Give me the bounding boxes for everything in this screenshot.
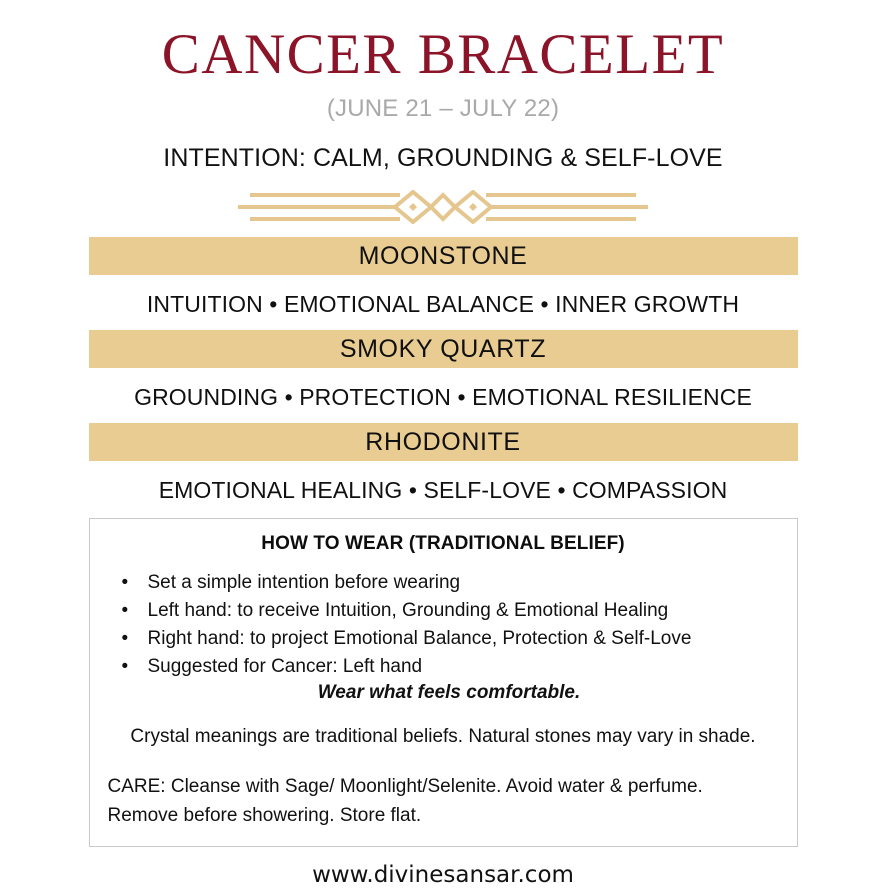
- stone-name: RHODONITE: [365, 430, 520, 455]
- stone-bar-moonstone: MOONSTONE: [89, 237, 798, 275]
- list-item-text: Suggested for Cancer: Left hand: [148, 656, 423, 677]
- how-to-wear-box: HOW TO WEAR (TRADITIONAL BELIEF) • Set a…: [89, 518, 798, 847]
- bracelet-info-card: CANCER BRACELET (JUNE 21 – JULY 22) INTE…: [0, 0, 886, 886]
- ornamental-diamond-divider-icon: [238, 190, 648, 224]
- page-title: CANCER BRACELET: [0, 0, 886, 83]
- how-to-wear-bullet-list: • Set a simple intention before wearing …: [104, 569, 783, 681]
- stone-name: SMOKY QUARTZ: [340, 337, 546, 362]
- comfort-note: Wear what feels comfortable.: [104, 682, 783, 704]
- stone-block-rhodonite: RHODONITE EMOTIONAL HEALING • SELF-LOVE …: [0, 423, 886, 502]
- list-item-text: Set a simple intention before wearing: [148, 572, 461, 593]
- intention-line: INTENTION: CALM, GROUNDING & SELF-LOVE: [0, 146, 886, 171]
- disclaimer-text: Crystal meanings are traditional beliefs…: [104, 724, 783, 750]
- bullet-icon: •: [122, 653, 129, 681]
- stone-properties: EMOTIONAL HEALING • SELF-LOVE • COMPASSI…: [0, 479, 886, 502]
- list-item-text: Right hand: to project Emotional Balance…: [148, 628, 692, 649]
- bullet-icon: •: [122, 625, 129, 653]
- stone-block-smoky-quartz: SMOKY QUARTZ GROUNDING • PROTECTION • EM…: [0, 330, 886, 409]
- care-instructions: CARE: Cleanse with Sage/ Moonlight/Selen…: [104, 772, 783, 830]
- stone-bar-rhodonite: RHODONITE: [89, 423, 798, 461]
- list-item: • Left hand: to receive Intuition, Groun…: [118, 597, 783, 625]
- bullet-icon: •: [122, 597, 129, 625]
- stone-list: MOONSTONE INTUITION • EMOTIONAL BALANCE …: [0, 237, 886, 502]
- website-url[interactable]: www.divinesansar.com: [0, 864, 886, 887]
- care-line-2: Remove before showering. Store flat.: [108, 801, 783, 830]
- list-item: • Set a simple intention before wearing: [118, 569, 783, 597]
- care-line-1: CARE: Cleanse with Sage/ Moonlight/Selen…: [108, 772, 783, 801]
- ornamental-divider: [0, 189, 886, 225]
- stone-properties: GROUNDING • PROTECTION • EMOTIONAL RESIL…: [0, 386, 886, 409]
- zodiac-date-range: (JUNE 21 – JULY 22): [0, 97, 886, 121]
- stone-properties: INTUITION • EMOTIONAL BALANCE • INNER GR…: [0, 293, 886, 316]
- how-to-wear-title: HOW TO WEAR (TRADITIONAL BELIEF): [104, 533, 783, 555]
- stone-name: MOONSTONE: [359, 244, 528, 269]
- stone-bar-smoky-quartz: SMOKY QUARTZ: [89, 330, 798, 368]
- list-item: • Right hand: to project Emotional Balan…: [118, 625, 783, 653]
- list-item-text: Left hand: to receive Intuition, Groundi…: [148, 600, 669, 621]
- list-item: • Suggested for Cancer: Left hand: [118, 653, 783, 681]
- bullet-icon: •: [122, 569, 129, 597]
- stone-block-moonstone: MOONSTONE INTUITION • EMOTIONAL BALANCE …: [0, 237, 886, 316]
